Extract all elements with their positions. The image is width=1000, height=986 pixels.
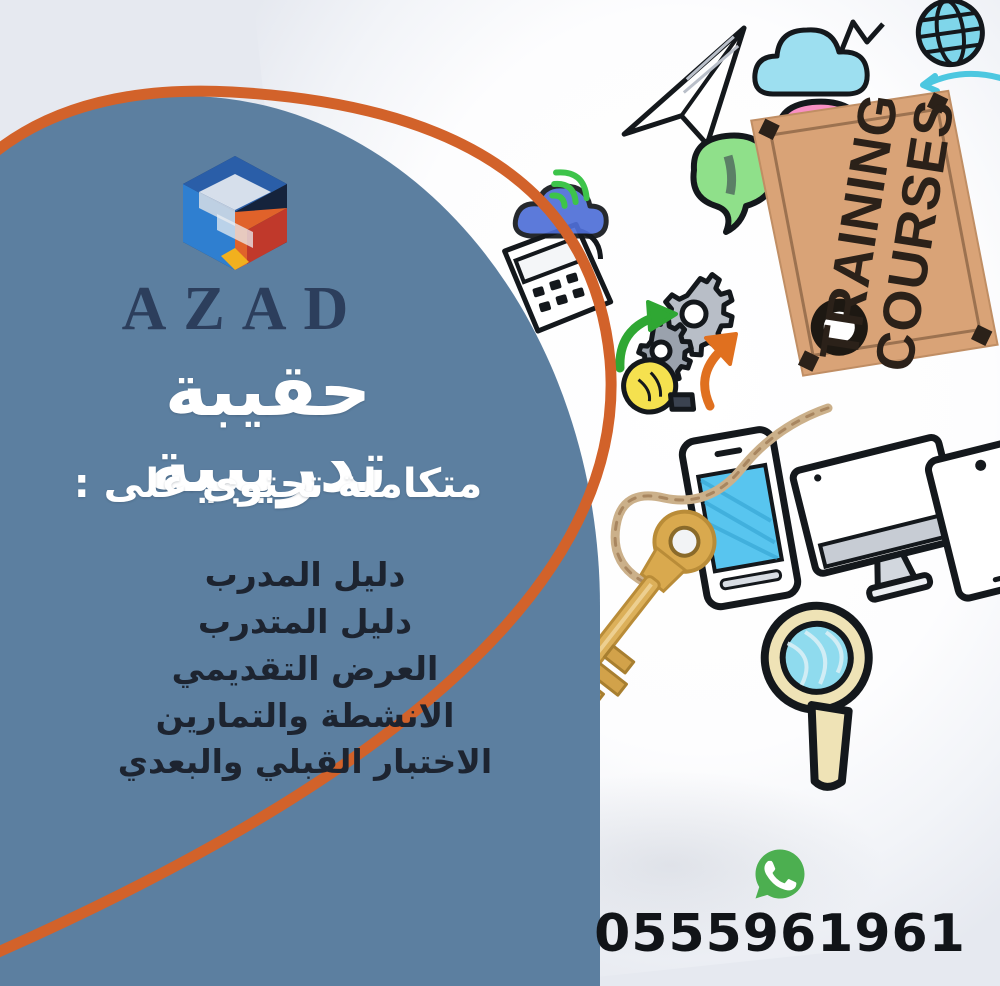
feature-list: دليل المدرب دليل المتدرب العرض التقديمي … xyxy=(90,552,520,786)
page-subtitle: متكاملة تحتوى على : xyxy=(68,460,488,508)
list-item: الانشطة والتمارين xyxy=(90,693,520,740)
poster-canvas: TRAINING COURSES xyxy=(0,0,1000,986)
phone-number[interactable]: 0555961961 xyxy=(560,908,1000,960)
hexagon-cube-logo-icon xyxy=(175,152,295,274)
content-column: AZAD حقيبة تدريبية متكاملة تحتوى على : د… xyxy=(0,0,520,986)
list-item: دليل المدرب xyxy=(90,552,520,599)
list-item: دليل المتدرب xyxy=(90,599,520,646)
brand-wordmark: AZAD xyxy=(0,278,470,340)
whatsapp-icon[interactable] xyxy=(752,846,808,902)
list-item: الاختبار القبلي والبعدي xyxy=(90,739,520,786)
list-item: العرض التقديمي xyxy=(90,646,520,693)
contact-block[interactable]: 0555961961 xyxy=(560,846,1000,960)
brand-block: AZAD xyxy=(0,152,470,340)
